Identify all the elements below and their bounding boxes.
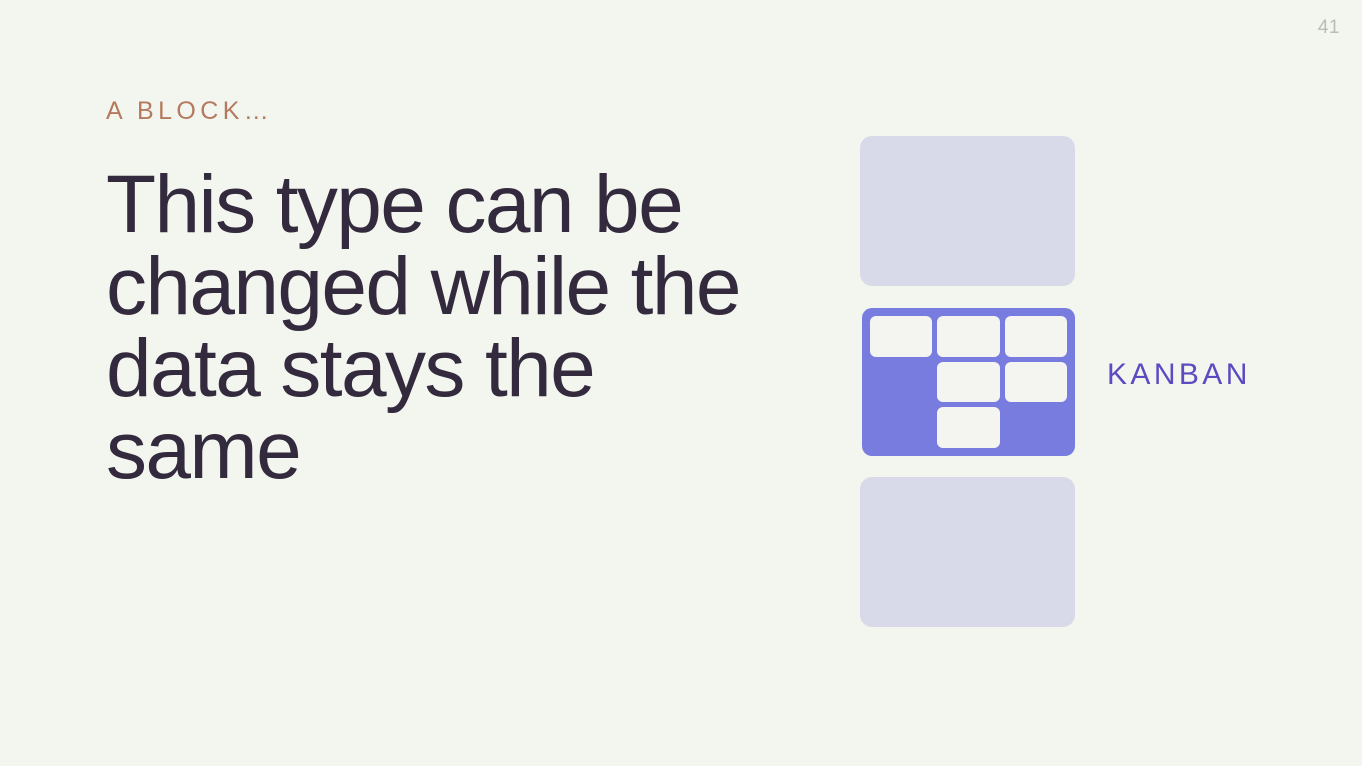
placeholder-block-top [860, 136, 1075, 286]
kanban-empty-cell [1005, 407, 1067, 448]
kanban-card[interactable] [937, 362, 999, 403]
page-number: 41 [1318, 18, 1340, 37]
kanban-label: KANBAN [1107, 360, 1251, 390]
kanban-empty-cell [870, 407, 932, 448]
text-column: A BLOCK… This type can be changed while … [106, 96, 796, 492]
kanban-card[interactable] [1005, 362, 1067, 403]
kanban-card[interactable] [1005, 316, 1067, 357]
kanban-card[interactable] [870, 316, 932, 357]
page-title: This type can be changed while the data … [106, 164, 766, 492]
diagram-column: KANBAN [860, 136, 1300, 630]
placeholder-block-bottom [860, 477, 1075, 627]
slide-root: 41 A BLOCK… This type can be changed whi… [0, 0, 1362, 766]
kanban-card[interactable] [937, 407, 999, 448]
kanban-block[interactable] [862, 308, 1075, 456]
kanban-card[interactable] [937, 316, 999, 357]
eyebrow-label: A BLOCK… [106, 96, 796, 126]
kanban-empty-cell [870, 362, 932, 403]
